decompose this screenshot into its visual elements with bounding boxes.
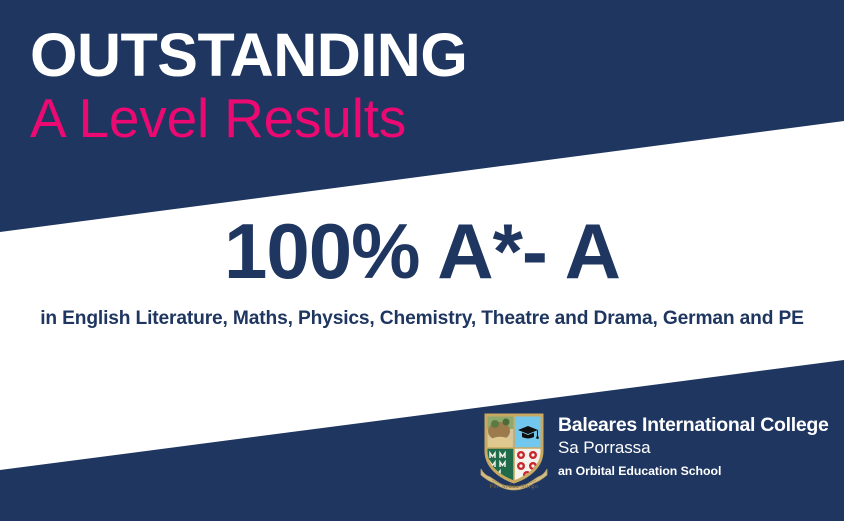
- headline-outstanding: OUTSTANDING: [30, 24, 590, 87]
- result-percentage: 100% A*- A: [0, 212, 844, 290]
- school-crest-icon: Per Ardua Surgo: [478, 409, 550, 495]
- headline-group: OUTSTANDING A Level Results: [30, 24, 590, 148]
- school-logo-lockup: Per Ardua Surgo Baleares International C…: [478, 409, 829, 495]
- results-poster: OUTSTANDING A Level Results 100% A*- A i…: [0, 0, 844, 521]
- crest-svg: Per Ardua Surgo: [478, 409, 550, 495]
- logo-school-name: Baleares International College: [558, 415, 829, 437]
- headline-a-level-results: A Level Results: [30, 89, 590, 147]
- result-group: 100% A*- A in English Literature, Maths,…: [0, 212, 844, 330]
- logo-strapline: an Orbital Education School: [558, 464, 829, 479]
- logo-campus-name: Sa Porrassa: [558, 437, 829, 458]
- svg-text:Per Ardua Surgo: Per Ardua Surgo: [490, 484, 539, 490]
- result-subject-list: in English Literature, Maths, Physics, C…: [0, 307, 844, 330]
- logo-text-block: Baleares International College Sa Porras…: [558, 409, 829, 479]
